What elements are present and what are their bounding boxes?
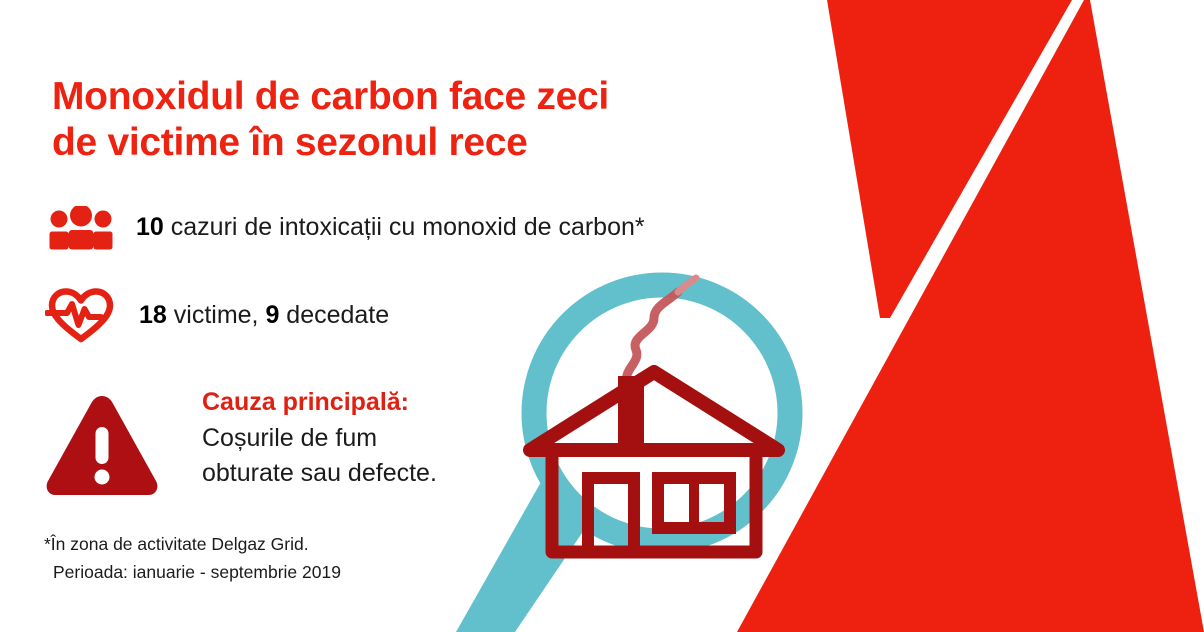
right-red-polygon: [737, 0, 1204, 632]
cause-text: Cauza principală: Coșurile de fum obtura…: [202, 385, 437, 492]
stat-deceased-label: decedate: [279, 301, 389, 329]
cause-body-line-2: obturate sau defecte.: [202, 456, 437, 492]
headline-line-1: Monoxidul de carbon face zeci: [52, 74, 752, 120]
stat-victims-text: 18 victime, 9 decedate: [139, 302, 389, 330]
infographic-canvas: Monoxidul de carbon face zeci de victime…: [0, 0, 1204, 632]
magnifier-handle: [456, 452, 605, 632]
smoke-wisp-icon: [678, 278, 696, 292]
house-icon: [552, 450, 756, 552]
roof-icon: [530, 372, 778, 450]
left-red-polygon: [827, 0, 1072, 318]
warning-triangle-icon: [40, 389, 164, 501]
window-icon: [658, 478, 730, 528]
door-icon: [588, 478, 634, 552]
heart-pulse-icon: [45, 287, 117, 345]
stat-row-victims: 18 victime, 9 decedate: [45, 287, 389, 345]
cause-block: Cauza principală: Coșurile de fum obtura…: [40, 383, 437, 501]
chimney-icon: [618, 376, 644, 446]
smoke-icon: [627, 292, 678, 388]
stat-cases-value: 10: [136, 213, 164, 241]
cause-body-line-1: Coșurile de fum: [202, 421, 437, 457]
group-of-people-icon: [48, 206, 114, 250]
footnote-line-2: Perioada: ianuarie - septembrie 2019: [44, 558, 341, 586]
stat-cases-label: cazuri de intoxicații cu monoxid de carb…: [164, 213, 645, 241]
stat-victims-label: victime,: [167, 301, 266, 329]
magnifier-ring: [534, 285, 790, 541]
page-title: Monoxidul de carbon face zeci de victime…: [52, 74, 752, 166]
stat-cases-text: 10 cazuri de intoxicații cu monoxid de c…: [136, 214, 645, 242]
cause-title: Cauza principală:: [202, 385, 437, 421]
stat-deceased-value: 9: [265, 301, 279, 329]
stat-row-cases: 10 cazuri de intoxicații cu monoxid de c…: [48, 206, 645, 250]
magnifying-glass-over-house-icon: [440, 260, 860, 632]
headline-line-2: de victime în sezonul rece: [52, 120, 752, 166]
stat-victims-value: 18: [139, 301, 167, 329]
footnote-line-1: *În zona de activitate Delgaz Grid.: [44, 530, 341, 558]
footnote: *În zona de activitate Delgaz Grid. Peri…: [44, 530, 341, 587]
